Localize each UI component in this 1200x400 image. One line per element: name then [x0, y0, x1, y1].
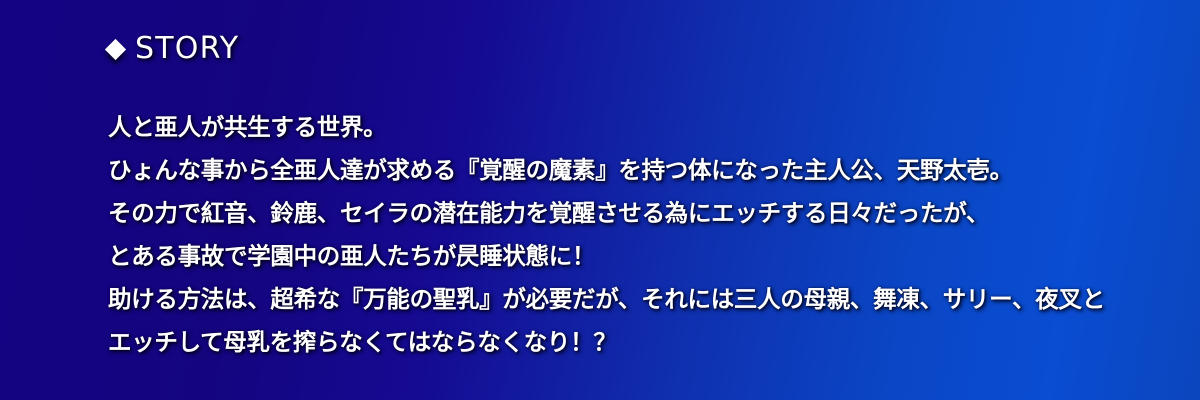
story-section-heading: STORY: [108, 34, 239, 64]
story-text-block: 人と亜人が共生する世界。 ひょんな事から全亜人達が求める『覚醒の魔素』を持つ体に…: [108, 106, 1168, 364]
story-panel: STORY 人と亜人が共生する世界。 ひょんな事から全亜人達が求める『覚醒の魔素…: [0, 0, 1200, 400]
story-line: とある事故で学園中の亜人たちが昃睡状態に！: [108, 235, 1168, 278]
story-line: 人と亜人が共生する世界。: [108, 106, 1168, 149]
page-title: STORY: [135, 34, 239, 64]
story-line: ひょんな事から全亜人達が求める『覚醒の魔素』を持つ体になった主人公、天野太壱。: [108, 149, 1168, 192]
story-line: 助ける方法は、超希な『万能の聖乳』が必要だが、それには三人の母親、舞凍、サリー、…: [108, 278, 1168, 321]
story-line: その力で紅音、鈴鹿、セイラの潜在能力を覚醒させる為にエッチする日々だったが、: [108, 192, 1168, 235]
diamond-icon: [105, 38, 126, 59]
story-line: エッチして母乳を搾らなくてはならなくなり！？: [108, 321, 1168, 364]
